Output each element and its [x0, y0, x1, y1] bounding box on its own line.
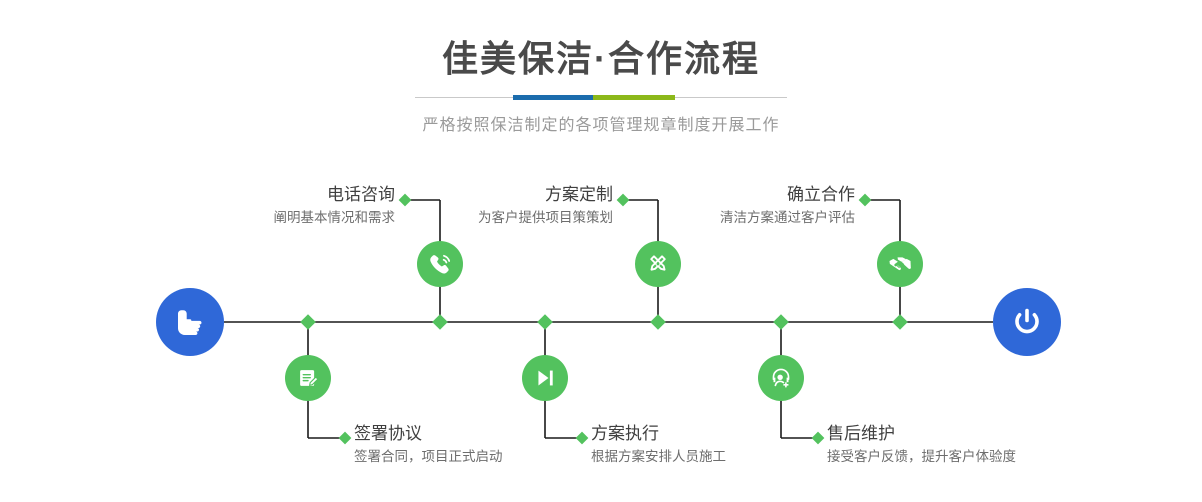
label-diamond-bottom-3 — [812, 432, 825, 445]
step-node-bottom-3[interactable] — [758, 355, 804, 401]
label-diamond-top-2 — [617, 194, 630, 207]
label-diamonds — [339, 194, 872, 445]
play-skip-icon — [531, 364, 559, 392]
timeline-diamond-4 — [650, 314, 666, 330]
timeline-diamond-1 — [300, 314, 316, 330]
timeline-diamond-3 — [537, 314, 553, 330]
step-label-bottom-2: 方案执行 根据方案安排人员施工 — [591, 424, 726, 467]
power-button-icon — [1007, 302, 1047, 342]
label-diamond-top-1 — [399, 194, 412, 207]
process-flow-diagram: 电话咨询 阐明基本情况和需求 方案定制 为客户提供项目策策划 确立合作 清洁方案… — [0, 0, 1202, 502]
timeline-diamond-2 — [432, 314, 448, 330]
label-diamond-bottom-1 — [339, 432, 352, 445]
customer-support-icon — [767, 364, 795, 392]
step-label-top-1: 电话咨询 阐明基本情况和需求 — [274, 185, 396, 228]
step-name: 方案定制 — [478, 185, 613, 205]
timeline-diamond-6 — [892, 314, 908, 330]
signed-document-icon — [294, 364, 322, 392]
flow-start-node[interactable] — [156, 288, 224, 356]
step-name: 确立合作 — [720, 185, 855, 205]
step-name: 方案执行 — [591, 424, 726, 444]
flow-end-node[interactable] — [993, 288, 1061, 356]
label-diamond-top-3 — [859, 194, 872, 207]
timeline-diamond-5 — [773, 314, 789, 330]
step-node-bottom-2[interactable] — [522, 355, 568, 401]
step-desc: 签署合同，项目正式启动 — [354, 447, 503, 467]
handshake-icon — [886, 250, 914, 278]
step-name: 电话咨询 — [274, 185, 396, 205]
pencil-edit-icon — [644, 250, 672, 278]
step-name: 售后维护 — [827, 424, 1016, 444]
step-label-top-2: 方案定制 为客户提供项目策策划 — [478, 185, 613, 228]
step-desc: 为客户提供项目策策划 — [478, 208, 613, 228]
step-label-bottom-1: 签署协议 签署合同，项目正式启动 — [354, 424, 503, 467]
phone-call-icon — [426, 250, 454, 278]
step-node-top-3[interactable] — [877, 241, 923, 287]
step-node-top-1[interactable] — [417, 241, 463, 287]
step-label-top-3: 确立合作 清洁方案通过客户评估 — [720, 185, 855, 228]
label-diamond-bottom-2 — [576, 432, 589, 445]
step-name: 签署协议 — [354, 424, 503, 444]
step-desc: 根据方案安排人员施工 — [591, 447, 726, 467]
pointing-hand-icon — [170, 302, 210, 342]
step-desc: 接受客户反馈，提升客户体验度 — [827, 447, 1016, 467]
step-node-bottom-1[interactable] — [285, 355, 331, 401]
step-node-top-2[interactable] — [635, 241, 681, 287]
step-label-bottom-3: 售后维护 接受客户反馈，提升客户体验度 — [827, 424, 1016, 467]
step-desc: 清洁方案通过客户评估 — [720, 208, 855, 228]
step-desc: 阐明基本情况和需求 — [274, 208, 396, 228]
